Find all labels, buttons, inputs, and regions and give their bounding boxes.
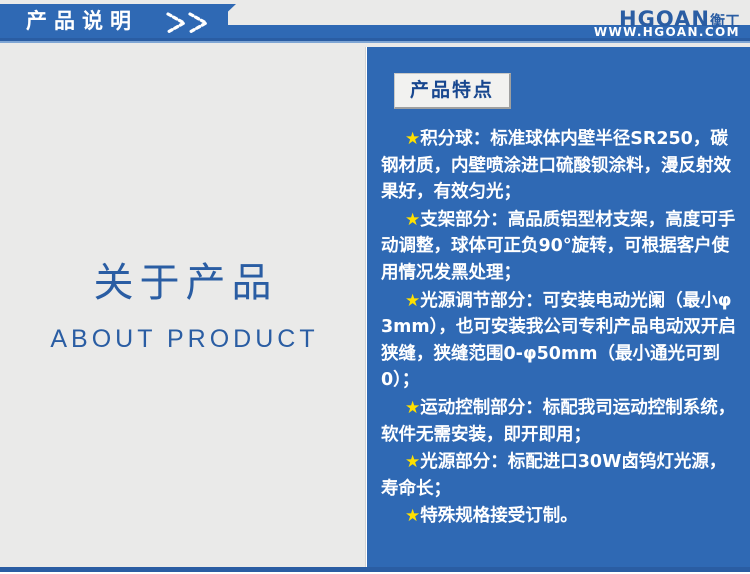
features-list: ★积分球：标准球体内壁半径SR250，碳钢材质，内壁喷涂进口硫酸钡涂料，漫反射效…: [381, 126, 739, 531]
page-header: 产品说明 HGOAN衡工 WWW.HGOAN.COM: [0, 0, 750, 47]
list-item: ★积分球：标准球体内壁半径SR250，碳钢材质，内壁喷涂进口硫酸钡涂料，漫反射效…: [381, 126, 739, 206]
features-title: 产品特点: [410, 79, 494, 101]
logo-website-url: WWW.HGOAN.COM: [594, 26, 740, 39]
list-item: ★光源调节部分：可安装电动光阑（最小φ3mm），也可安装我公司专利产品电动双开启…: [381, 288, 739, 394]
star-icon: ★: [405, 452, 420, 472]
double-chevron-right-icon: [165, 10, 225, 36]
header-underline-light: [0, 41, 750, 43]
list-item: ★特殊规格接受订制。: [381, 503, 739, 530]
about-title-cn: 关于产品: [0, 259, 365, 307]
product-features-panel: 产品特点 ★积分球：标准球体内壁半径SR250，碳钢材质，内壁喷涂进口硫酸钡涂料…: [367, 47, 750, 567]
list-item: ★光源部分：标配进口30W卤钨灯光源，寿命长；: [381, 449, 739, 502]
star-icon: ★: [405, 291, 420, 311]
feature-text: 运动控制部分：标配我司运动控制系统，软件无需安装，即开即用；: [381, 398, 735, 445]
star-icon: ★: [405, 398, 420, 418]
feature-text: 光源调节部分：可安装电动光阑（最小φ3mm），也可安装我公司专利产品电动双开启狭…: [381, 291, 736, 391]
feature-text: 光源部分：标配进口30W卤钨灯光源，寿命长；: [381, 452, 726, 499]
about-title-en: ABOUT PRODUCT: [0, 324, 365, 354]
feature-text: 积分球：标准球体内壁半径SR250，碳钢材质，内壁喷涂进口硫酸钡涂料，漫反射效果…: [381, 129, 731, 202]
feature-text: 支架部分：高品质铝型材支架，高度可手动调整，球体可正负90°旋转，可根据客户使用…: [381, 210, 735, 283]
star-icon: ★: [405, 506, 420, 526]
star-icon: ★: [405, 129, 420, 149]
star-icon: ★: [405, 210, 420, 230]
product-description-page: 产品说明 HGOAN衡工 WWW.HGOAN.COM 关于产品 ABOUT PR…: [0, 0, 750, 574]
features-title-box: 产品特点: [394, 73, 511, 109]
feature-text: 特殊规格接受订制。: [420, 506, 578, 526]
about-product-panel: 关于产品 ABOUT PRODUCT: [0, 47, 366, 567]
list-item: ★运动控制部分：标配我司运动控制系统，软件无需安装，即开即用；: [381, 395, 739, 448]
banner-title: 产品说明: [26, 8, 138, 34]
list-item: ★支架部分：高品质铝型材支架，高度可手动调整，球体可正负90°旋转，可根据客户使…: [381, 207, 739, 287]
